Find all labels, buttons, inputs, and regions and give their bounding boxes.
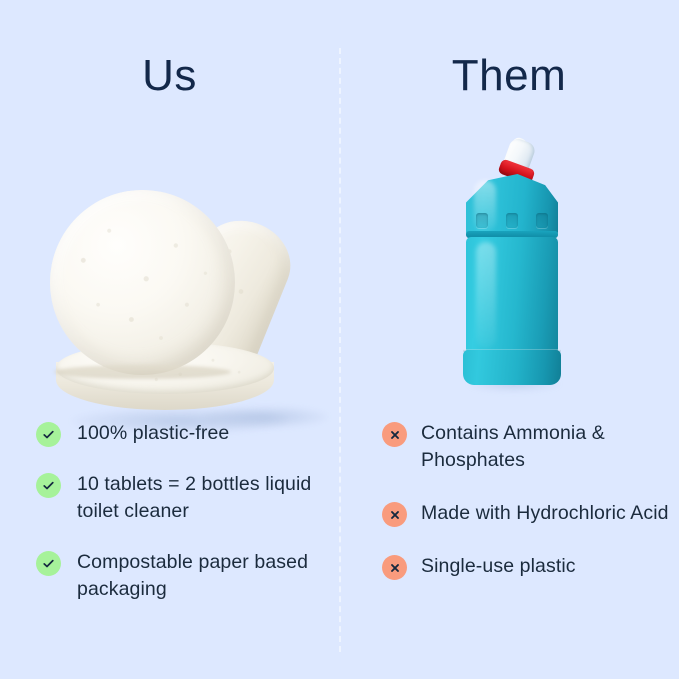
list-item: 10 tablets = 2 bottles liquid toilet cle… [36, 471, 336, 525]
bottle-body-highlight [476, 242, 496, 348]
bottle-grip-row [472, 212, 552, 229]
hero-left [0, 130, 339, 405]
check-icon [36, 422, 61, 447]
list-item: Single-use plastic [382, 553, 672, 580]
bottle-grip-3 [536, 213, 548, 228]
check-icon [36, 551, 61, 576]
cleaning-tablets-photo [28, 190, 318, 405]
list-item-label: Single-use plastic [421, 553, 576, 580]
list-item-label: 100% plastic-free [77, 420, 229, 447]
list-item-label: Compostable paper based packaging [77, 549, 336, 603]
list-item-label: 10 tablets = 2 bottles liquid toilet cle… [77, 471, 336, 525]
list-item: 100% plastic-free [36, 420, 336, 447]
list-item-label: Made with Hydrochloric Acid [421, 500, 669, 527]
comparison-infographic: Us Them [0, 0, 679, 679]
drawback-list-them: Contains Ammonia & Phosphates Made with … [382, 420, 672, 606]
plastic-bottle-photo [452, 138, 572, 393]
list-item: Contains Ammonia & Phosphates [382, 420, 672, 474]
check-icon [36, 473, 61, 498]
tablet-upright [50, 190, 235, 375]
cross-icon [382, 422, 407, 447]
cross-icon [382, 555, 407, 580]
bottle-grip-1 [476, 213, 488, 228]
list-item-label: Contains Ammonia & Phosphates [421, 420, 672, 474]
cross-icon [382, 502, 407, 527]
column-heading-them: Them [339, 51, 679, 101]
list-item: Compostable paper based packaging [36, 549, 336, 603]
column-heading-us: Us [0, 51, 339, 101]
tablet-upright-rim [54, 365, 231, 379]
benefit-list-us: 100% plastic-free 10 tablets = 2 bottles… [36, 420, 336, 627]
tablet-upright-texture [50, 190, 235, 375]
list-item: Made with Hydrochloric Acid [382, 500, 672, 527]
hero-right [339, 130, 679, 405]
bottle-base [463, 350, 561, 385]
bottle-grip-2 [506, 213, 518, 228]
